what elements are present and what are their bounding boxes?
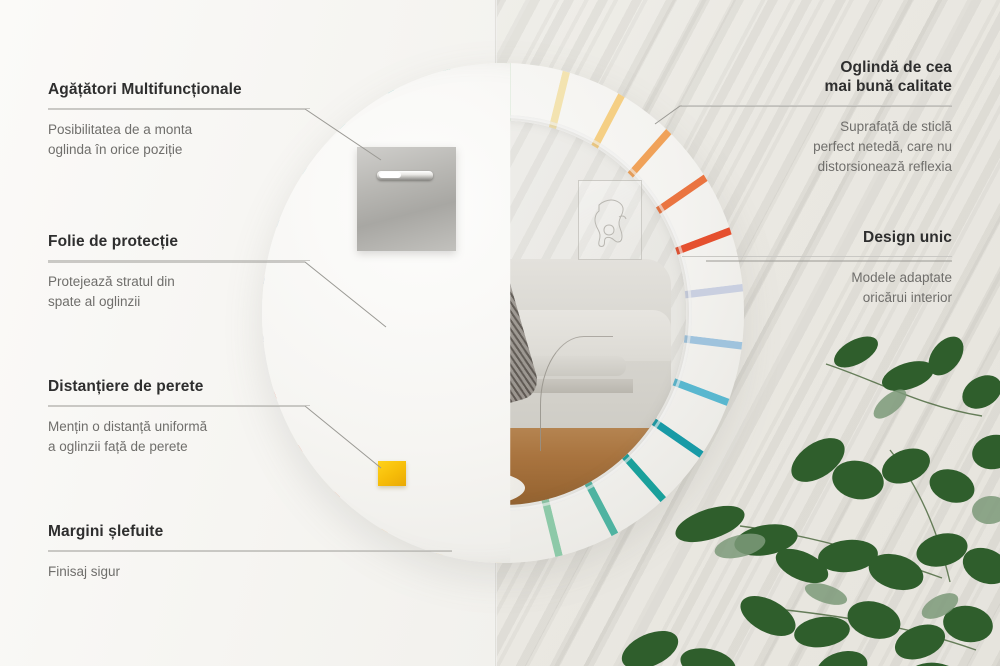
callout-best-quality-title: Oglindă de cea mai bună calitate <box>682 58 952 96</box>
callout-protective-film-body: Protejează stratul din spate al oglinzii <box>48 272 310 312</box>
callout-polished-edges-title: Margini șlefuite <box>48 522 452 541</box>
callout-best-quality-rule <box>682 105 952 106</box>
hanger-keyhole-slot <box>377 171 433 180</box>
callout-protective-film: Folie de protecție Protejează stratul di… <box>48 232 310 312</box>
callout-hangers-body: Posibilitatea de a monta oglinda în oric… <box>48 120 310 160</box>
callout-protective-film-rule <box>48 260 310 261</box>
callout-unique-design-body: Modele adaptate oricărui interior <box>682 268 952 308</box>
callout-polished-edges-body: Finisaj sigur <box>48 562 452 582</box>
callout-unique-design-title: Design unic <box>682 228 952 247</box>
callout-wall-spacers-title: Distanțiere de perete <box>48 377 310 396</box>
callout-best-quality: Oglindă de cea mai bună calitate Suprafa… <box>682 58 952 177</box>
multifunctional-hanger-plate <box>357 147 456 251</box>
callout-protective-film-title: Folie de protecție <box>48 232 310 251</box>
callout-polished-edges: Margini șlefuite Finisaj sigur <box>48 522 452 582</box>
callout-unique-design-rule <box>682 256 952 257</box>
callout-polished-edges-rule <box>48 550 452 551</box>
callout-hangers-rule <box>48 108 310 109</box>
callout-best-quality-body: Suprafață de sticlă perfect netedă, care… <box>682 117 952 177</box>
callout-unique-design: Design unic Modele adaptate oricărui int… <box>682 228 952 308</box>
eucalyptus-plant-decor <box>590 320 1000 666</box>
callout-wall-spacers-rule <box>48 405 310 406</box>
callout-wall-spacers: Distanțiere de perete Mențin o distanță … <box>48 377 310 457</box>
engraved-elephant-motif-icon <box>578 180 642 260</box>
infographic-canvas: Agățători Multifuncționale Posibilitatea… <box>0 0 1000 666</box>
callout-wall-spacers-body: Mențin o distanță uniformă a oglinzii fa… <box>48 417 310 457</box>
callout-hangers: Agățători Multifuncționale Posibilitatea… <box>48 80 310 160</box>
callout-hangers-title: Agățători Multifuncționale <box>48 80 310 99</box>
wall-spacer-pad <box>378 461 406 486</box>
